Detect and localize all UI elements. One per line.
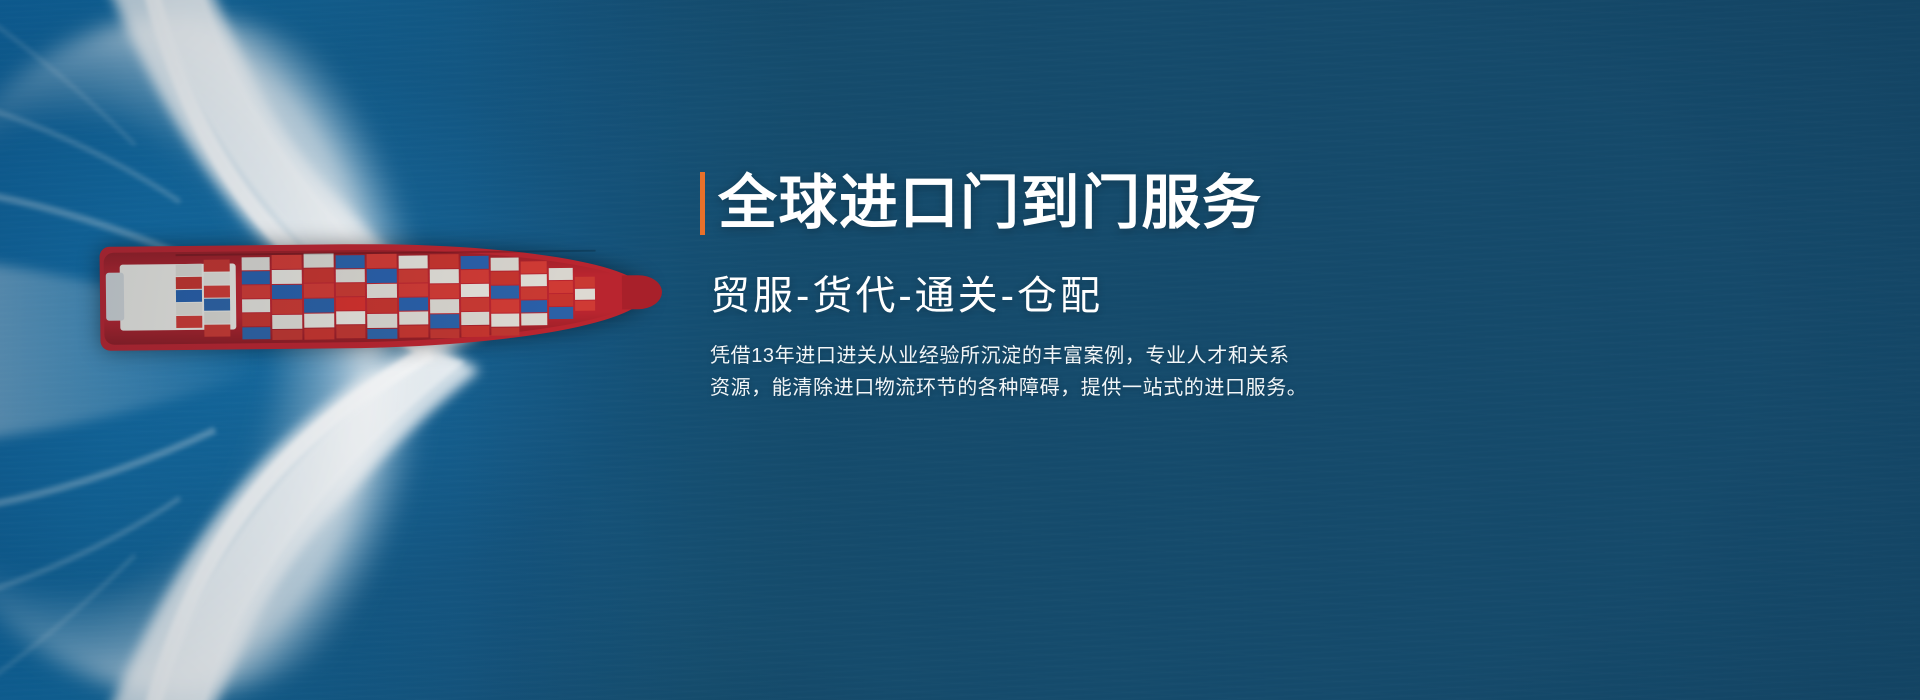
description-line-2: 资源，能清除进口物流环节的各种障碍，提供一站式的进口服务。: [710, 372, 1410, 404]
banner-title-row: 全球进口门到门服务: [700, 172, 1263, 235]
banner-description: 凭借13年进口进关从业经验所沉淀的丰富案例，专业人才和关系 资源，能清除进口物流…: [710, 340, 1410, 404]
banner-subtitle: 贸服-货代-通关-仓配: [710, 274, 1103, 318]
hero-banner: 全球进口门到门服务 贸服-货代-通关-仓配 凭借13年进口进关从业经验所沉淀的丰…: [0, 0, 1920, 700]
banner-content: 全球进口门到门服务 贸服-货代-通关-仓配 凭借13年进口进关从业经验所沉淀的丰…: [700, 0, 1460, 700]
accent-bar-icon: [700, 172, 705, 235]
page-title: 全球进口门到门服务: [718, 174, 1263, 233]
description-line-1: 凭借13年进口进关从业经验所沉淀的丰富案例，专业人才和关系: [710, 340, 1410, 372]
